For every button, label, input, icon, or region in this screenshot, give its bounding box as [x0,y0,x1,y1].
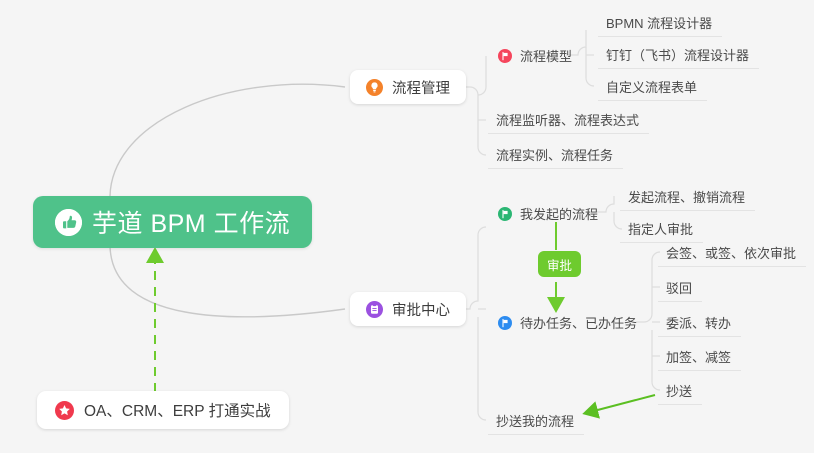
leaf-label: 自定义流程表单 [606,77,697,96]
leaf-node-dingtalk-designer[interactable]: 钉钉（飞书）流程设计器 [598,40,759,69]
sub-node-process-model[interactable]: 流程模型 [490,41,582,70]
branch-label: 审批中心 [392,299,450,320]
sub-node-label: 流程模型 [520,46,572,65]
clipboard-icon [366,301,383,318]
tag-label: 审批 [547,255,572,274]
card-node-integration[interactable]: OA、CRM、ERP 打通实战 [37,391,289,429]
leaf-node-carbon-copy[interactable]: 抄送 [658,376,702,405]
leaf-label: 抄送 [666,381,692,400]
sub-node-my-started-flows[interactable]: 我发起的流程 [490,199,608,228]
leaf-node-start-cancel-flow[interactable]: 发起流程、撤销流程 [620,182,755,211]
leaf-label: 指定人审批 [628,219,693,238]
tag-node-approval[interactable]: 审批 [538,251,581,277]
flag-icon [498,207,512,221]
leaf-node-cc-to-me-flows[interactable]: 抄送我的流程 [488,406,584,435]
root-node-label: 芋道 BPM 工作流 [92,204,290,240]
connector-root-to-process-management [110,84,345,196]
branch-label: 流程管理 [392,77,450,98]
flag-icon [498,49,512,63]
branch-node-process-management[interactable]: 流程管理 [350,70,466,104]
leaf-label: 委派、转办 [666,313,731,332]
leaf-node-custom-form[interactable]: 自定义流程表单 [598,72,707,101]
leaf-label: 钉钉（飞书）流程设计器 [606,45,749,64]
leaf-label: 抄送我的流程 [496,411,574,430]
leaf-label: BPMN 流程设计器 [606,13,712,32]
leaf-label: 会签、或签、依次审批 [666,243,796,262]
leaf-label: 流程监听器、流程表达式 [496,110,639,129]
sub-node-todo-done-tasks[interactable]: 待办任务、已办任务 [490,308,647,337]
flag-icon [498,316,512,330]
leaf-label: 驳回 [666,278,692,297]
leaf-label: 发起流程、撤销流程 [628,187,745,206]
mindmap-canvas: 芋道 BPM 工作流 流程管理 流程模型 BPMN 流程设计器 钉钉（飞书 [0,0,814,453]
connector-root-to-approval-center [110,246,345,317]
connector-pm-branch-model [478,56,486,95]
leaf-node-reject[interactable]: 驳回 [658,273,702,302]
leaf-node-multi-approval[interactable]: 会签、或签、依次审批 [658,238,806,267]
thumbs-up-icon [55,209,82,236]
leaf-node-bpmn-designer[interactable]: BPMN 流程设计器 [598,8,722,37]
leaf-node-delegate-transfer[interactable]: 委派、转办 [658,308,741,337]
lightbulb-icon [366,79,383,96]
sub-node-label: 我发起的流程 [520,204,598,223]
branch-node-approval-center[interactable]: 审批中心 [350,292,466,326]
root-node[interactable]: 芋道 BPM 工作流 [33,196,312,248]
leaf-label: 加签、减签 [666,347,731,366]
sub-node-label: 待办任务、已办任务 [520,313,637,332]
star-icon [55,401,74,420]
card-label: OA、CRM、ERP 打通实战 [84,399,271,421]
leaf-node-listener-expression[interactable]: 流程监听器、流程表达式 [488,105,649,134]
leaf-node-add-remove-sign[interactable]: 加签、减签 [658,342,741,371]
leaf-node-instance-task[interactable]: 流程实例、流程任务 [488,140,623,169]
connector-model-spine-down [586,47,594,86]
connector-ac-spine-down [478,317,486,420]
arrow-cc-to-cc-flow [590,395,655,412]
leaf-label: 流程实例、流程任务 [496,145,613,164]
